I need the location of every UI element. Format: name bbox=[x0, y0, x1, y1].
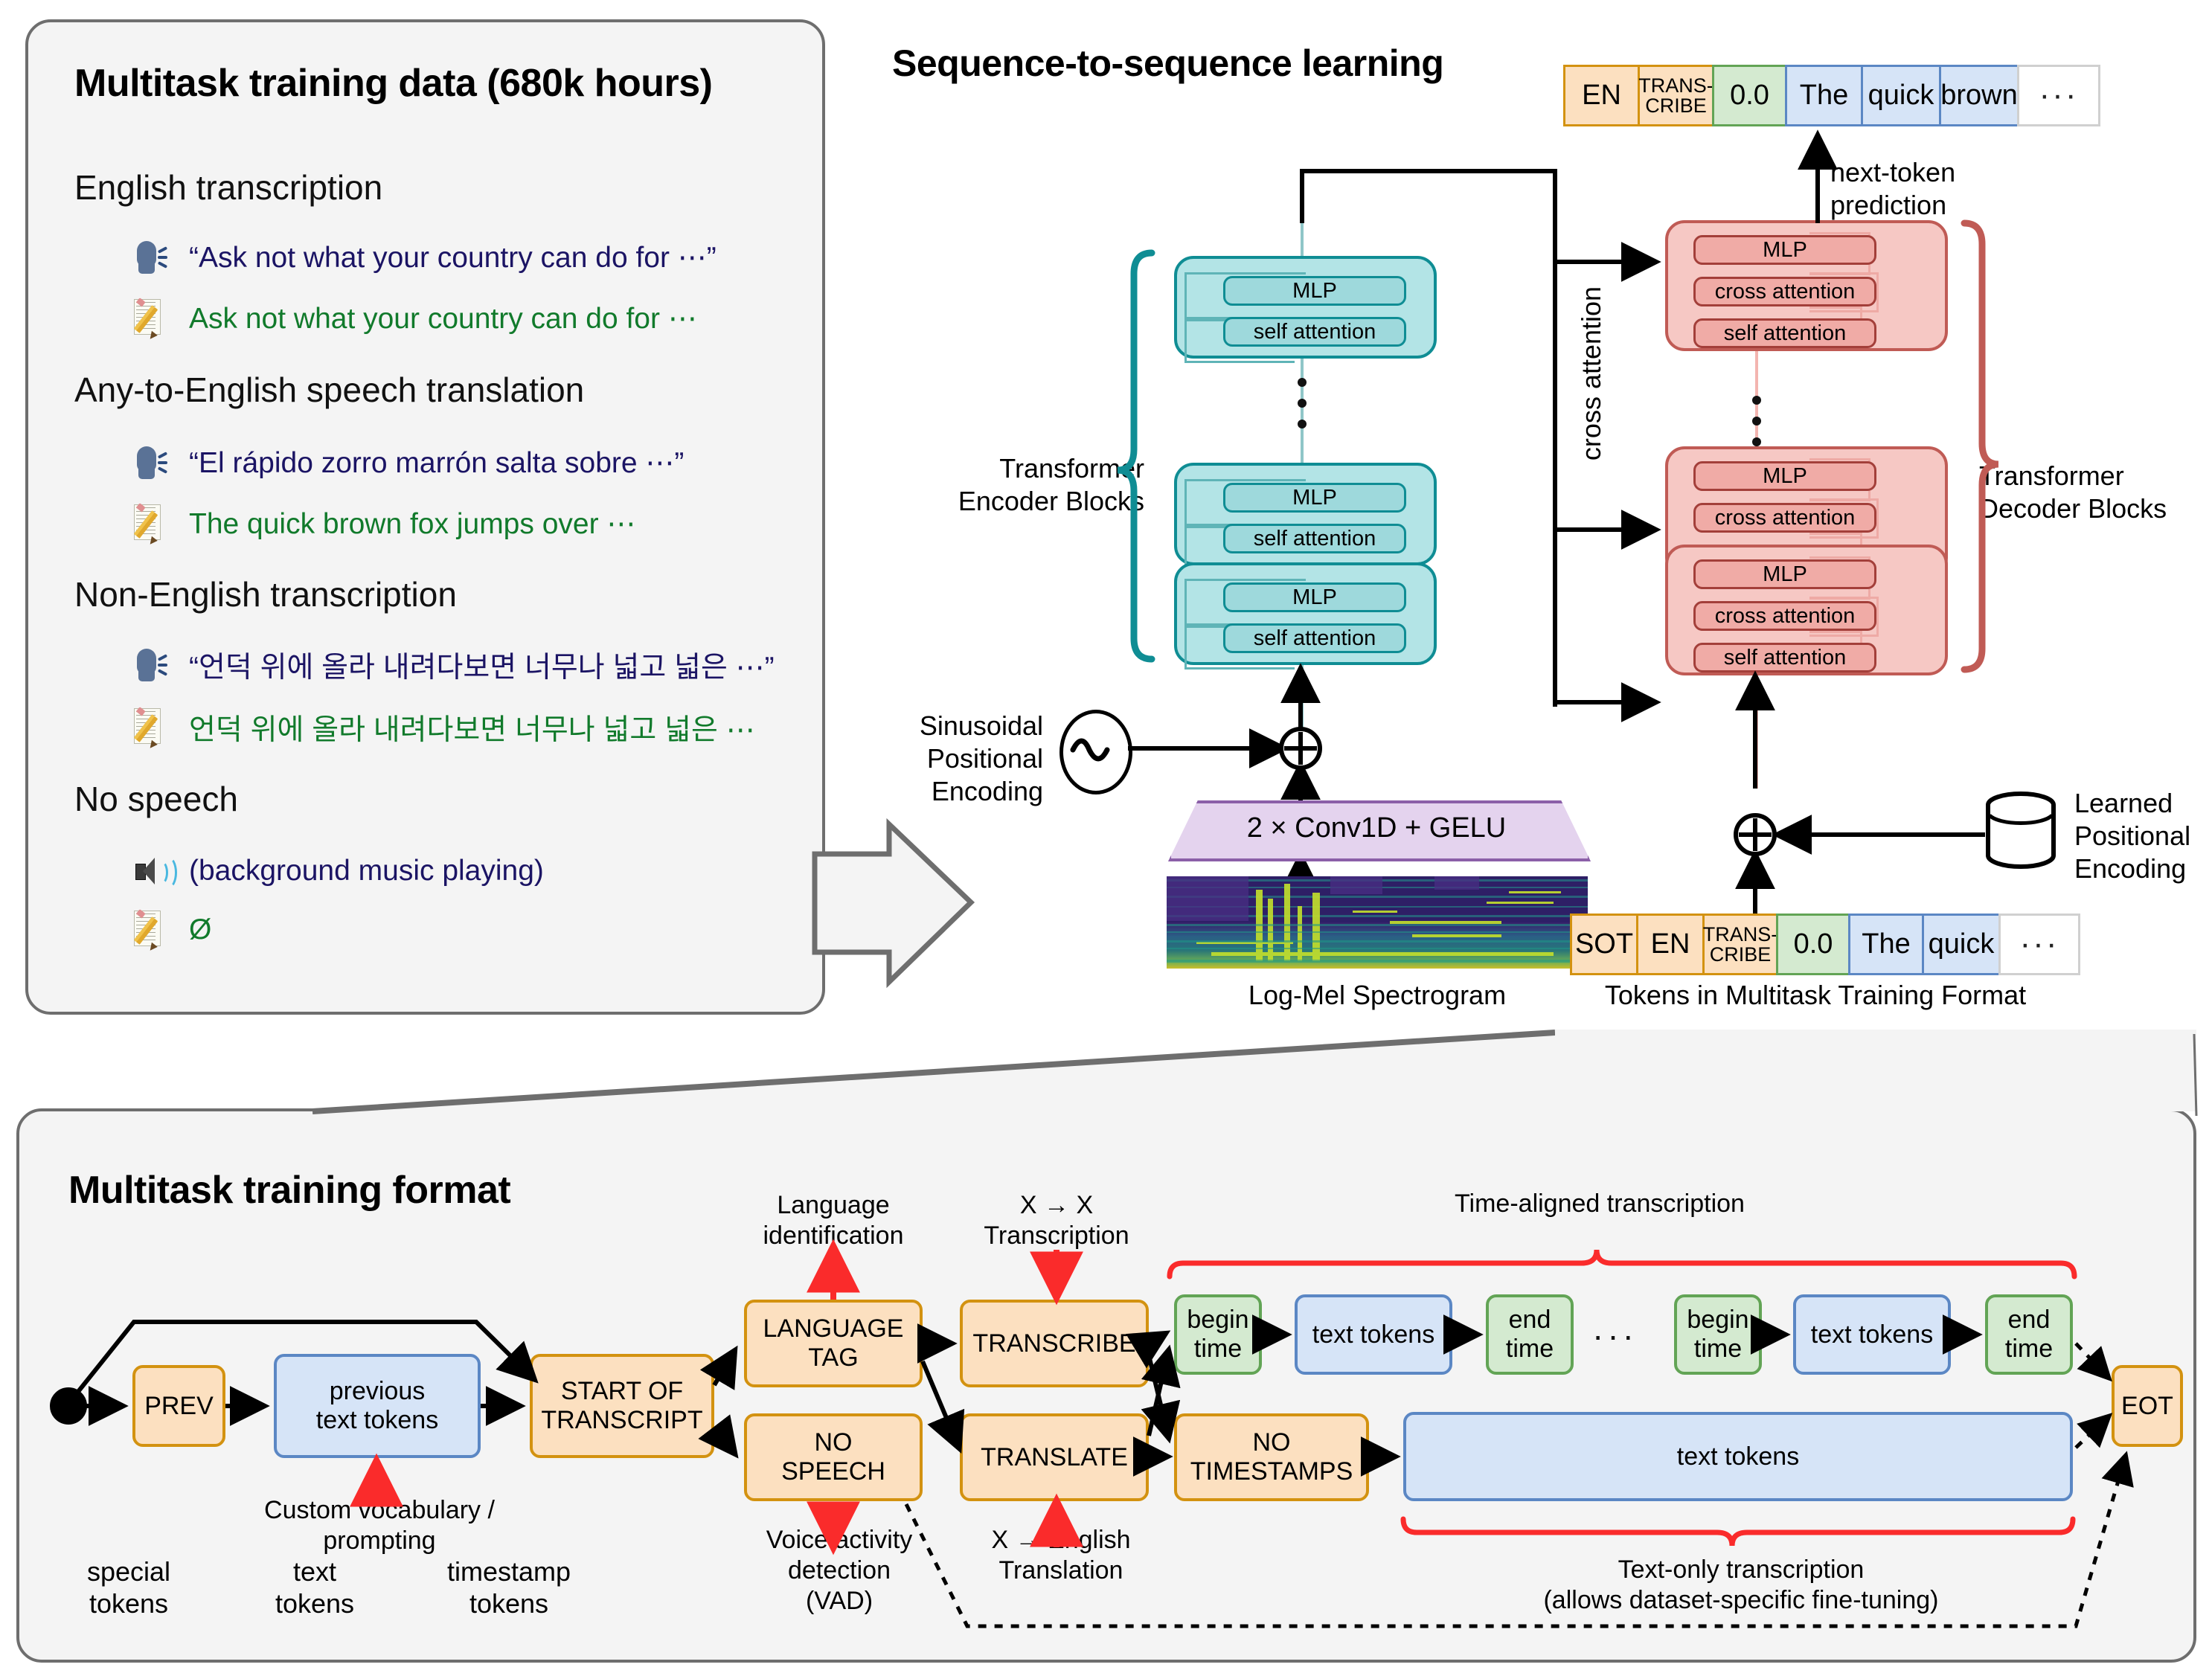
flow-box-eot[interactable]: EOT bbox=[2112, 1365, 2183, 1447]
sinusoidal-icon bbox=[1059, 710, 1132, 794]
legend-timestamp-tokens: timestamptokens bbox=[421, 1551, 597, 1624]
note-x-to-english-translation: X → EnglishTranslation bbox=[949, 1525, 1173, 1586]
note-time-aligned-transcription: Time-aligned transcription bbox=[1354, 1189, 1845, 1219]
token-0-0: 0.0 bbox=[1712, 65, 1787, 126]
token-en: EN bbox=[1563, 65, 1640, 126]
speech-text: “Ask not what your country can do for ⋯” bbox=[189, 241, 717, 274]
note-x-to-x-transcription: X → XTranscription bbox=[945, 1190, 1168, 1251]
encoder-block-mid: MLP self attention bbox=[1174, 463, 1437, 565]
seq2seq-title: Sequence-to-sequence learning bbox=[892, 42, 1443, 85]
flow-ellipsis: ··· bbox=[1592, 1315, 1638, 1355]
token-: ··· bbox=[2017, 65, 2100, 126]
log-mel-spectrogram-image bbox=[1167, 876, 1588, 969]
flow-box-no-speech[interactable]: NOSPEECH bbox=[744, 1413, 923, 1501]
token-the: The bbox=[1785, 65, 1863, 126]
transcript-text: The quick brown fox jumps over ⋯ bbox=[189, 507, 635, 541]
flow-box-start-of-transcript[interactable]: START OFTRANSCRIPT bbox=[530, 1354, 714, 1458]
token-quick: quick bbox=[1861, 65, 1941, 126]
token-trans-cribe: TRANS-CRIBE bbox=[1638, 65, 1714, 126]
decoder-self-attention: self attention bbox=[1693, 643, 1876, 672]
note-custom-vocabulary-prompting: Custom vocabulary /prompting bbox=[246, 1495, 513, 1556]
speech-text: “El rápido zorro marrón salta sobre ⋯” bbox=[189, 446, 684, 480]
section-heading-non-english-transcription: Non-English transcription bbox=[74, 574, 457, 614]
memo-pencil-icon bbox=[132, 503, 174, 545]
token-: ··· bbox=[1998, 914, 2080, 975]
speaker-audio-icon bbox=[132, 850, 174, 892]
flow-box-begin-time-2[interactable]: begintime bbox=[1674, 1294, 1762, 1375]
note-language-identification: Languageidentification bbox=[714, 1190, 952, 1251]
decoder-cross-attention: cross attention bbox=[1693, 601, 1876, 631]
decoder-block-top: MLP cross attention self attention bbox=[1665, 220, 1948, 351]
note-text-only-transcription: Text-only transcription(allows dataset-s… bbox=[1369, 1555, 2113, 1616]
learned-positional-encoding-label: LearnedPositionalEncoding bbox=[2074, 787, 2212, 885]
flow-box-translate[interactable]: TRANSLATE bbox=[960, 1413, 1149, 1501]
encoder-self-attention: self attention bbox=[1223, 524, 1406, 553]
flow-box-text-tokens-1[interactable]: text tokens bbox=[1295, 1294, 1452, 1375]
example-speech-row: (background music playing) bbox=[132, 850, 544, 892]
token-en: EN bbox=[1636, 914, 1705, 975]
transcript-text: Ask not what your country can do for ⋯ bbox=[189, 302, 697, 335]
transcript-text: 언덕 위에 올라 내려다보면 너무나 넓고 넓은 ⋯ bbox=[189, 707, 755, 748]
conv1d-gelu-block: 2 × Conv1D + GELU bbox=[1168, 800, 1585, 855]
flow-box-previous-text-tokens[interactable]: previoustext tokens bbox=[274, 1354, 481, 1458]
encoder-mlp: MLP bbox=[1223, 483, 1406, 513]
flow-box-no-timestamps[interactable]: NOTIMESTAMPS bbox=[1174, 1413, 1369, 1501]
flow-box-end-time-1[interactable]: endtime bbox=[1486, 1294, 1574, 1375]
encoder-mlp: MLP bbox=[1223, 276, 1406, 306]
encoder-block-top: MLP self attention bbox=[1174, 256, 1437, 359]
encoder-ellipsis-icon bbox=[1298, 378, 1307, 440]
decoder-block-bottom: MLP cross attention self attention bbox=[1665, 545, 1948, 675]
sinusoidal-positional-encoding-label: SinusoidalPositionalEncoding bbox=[841, 710, 1043, 808]
input-tokens-caption: Tokens in Multitask Training Format bbox=[1555, 979, 2076, 1012]
spectrogram-caption: Log-Mel Spectrogram bbox=[1167, 979, 1588, 1012]
token-trans-cribe: TRANS-CRIBE bbox=[1702, 914, 1778, 975]
decoder-mlp: MLP bbox=[1693, 235, 1876, 265]
token-brown: brown bbox=[1939, 65, 2019, 126]
legend-text-tokens: texttokens bbox=[234, 1551, 396, 1624]
section-heading-english-transcription: English transcription bbox=[74, 167, 382, 208]
section-heading-no-speech: No speech bbox=[74, 779, 238, 819]
encoder-self-attention: self attention bbox=[1223, 623, 1406, 653]
decoder-self-attention: self attention bbox=[1693, 318, 1876, 348]
example-speech-row: “Ask not what your country can do for ⋯” bbox=[132, 237, 717, 278]
example-speech-row: “언덕 위에 올라 내려다보면 너무나 넓고 넓은 ⋯” bbox=[132, 644, 775, 686]
input-token-strip: SOTENTRANS-CRIBE0.0Thequick··· bbox=[1570, 914, 2080, 975]
next-token-prediction-label: next-tokenprediction bbox=[1830, 156, 2054, 222]
section-heading-any-to-english-speech-translation: Any-to-English speech translation bbox=[74, 370, 584, 410]
example-transcript-row: Ask not what your country can do for ⋯ bbox=[132, 298, 697, 339]
encoder-self-attention: self attention bbox=[1223, 317, 1406, 347]
cross-attention-label: cross attention bbox=[1576, 240, 1609, 507]
example-transcript-row: Ø bbox=[132, 909, 211, 951]
example-transcript-row: 언덕 위에 올라 내려다보면 너무나 넓고 넓은 ⋯ bbox=[132, 707, 755, 748]
speech-text: (background music playing) bbox=[189, 855, 544, 887]
encoder-bracket-label: TransformerEncoder Blocks bbox=[878, 452, 1144, 518]
speaker-head-icon bbox=[132, 442, 174, 484]
bottom-panel-title: Multitask training format bbox=[68, 1168, 510, 1213]
encoder-mlp: MLP bbox=[1223, 582, 1406, 612]
flow-box-prev[interactable]: PREV bbox=[132, 1365, 225, 1447]
decoder-cross-attention: cross attention bbox=[1693, 503, 1876, 533]
token-the: The bbox=[1848, 914, 1924, 975]
flow-box-text-tokens-long[interactable]: text tokens bbox=[1403, 1412, 2073, 1501]
token-0-0: 0.0 bbox=[1776, 914, 1850, 975]
speaker-head-icon bbox=[132, 644, 174, 686]
example-transcript-row: The quick brown fox jumps over ⋯ bbox=[132, 503, 635, 545]
token-quick: quick bbox=[1922, 914, 2001, 975]
token-sot: SOT bbox=[1570, 914, 1638, 975]
flow-box-transcribe[interactable]: TRANSCRIBE bbox=[960, 1300, 1149, 1387]
decoder-mlp: MLP bbox=[1693, 461, 1876, 491]
example-speech-row: “El rápido zorro marrón salta sobre ⋯” bbox=[132, 442, 684, 484]
decoder-ellipsis-icon bbox=[1752, 396, 1761, 458]
flow-box-begin-time-1[interactable]: begintime bbox=[1174, 1294, 1262, 1375]
memo-pencil-icon bbox=[132, 909, 174, 951]
memo-pencil-icon bbox=[132, 707, 174, 748]
conv-label: 2 × Conv1D + GELU bbox=[1168, 800, 1585, 855]
flow-box-language-tag[interactable]: LANGUAGETAG bbox=[744, 1300, 923, 1387]
flow-box-text-tokens-2[interactable]: text tokens bbox=[1793, 1294, 1951, 1375]
memo-pencil-icon bbox=[132, 298, 174, 339]
page-title: Multitask training data (680k hours) bbox=[74, 61, 713, 106]
speech-text: “언덕 위에 올라 내려다보면 너무나 넓고 넓은 ⋯” bbox=[189, 644, 775, 686]
flow-box-end-time-2[interactable]: endtime bbox=[1985, 1294, 2073, 1375]
encoder-block-bottom: MLP self attention bbox=[1174, 562, 1437, 665]
decoder-bracket-label: TransformerDecoder Blocks bbox=[1979, 460, 2212, 525]
note-voice-activity-detection: Voice activitydetection(VAD) bbox=[720, 1525, 958, 1616]
transcript-text: Ø bbox=[189, 914, 211, 946]
decoder-mlp: MLP bbox=[1693, 559, 1876, 589]
decoder-cross-attention: cross attention bbox=[1693, 277, 1876, 306]
legend-special-tokens: specialtokens bbox=[48, 1551, 210, 1624]
speaker-head-icon bbox=[132, 237, 174, 278]
output-token-strip: ENTRANS-CRIBE0.0Thequickbrown··· bbox=[1563, 65, 2100, 126]
